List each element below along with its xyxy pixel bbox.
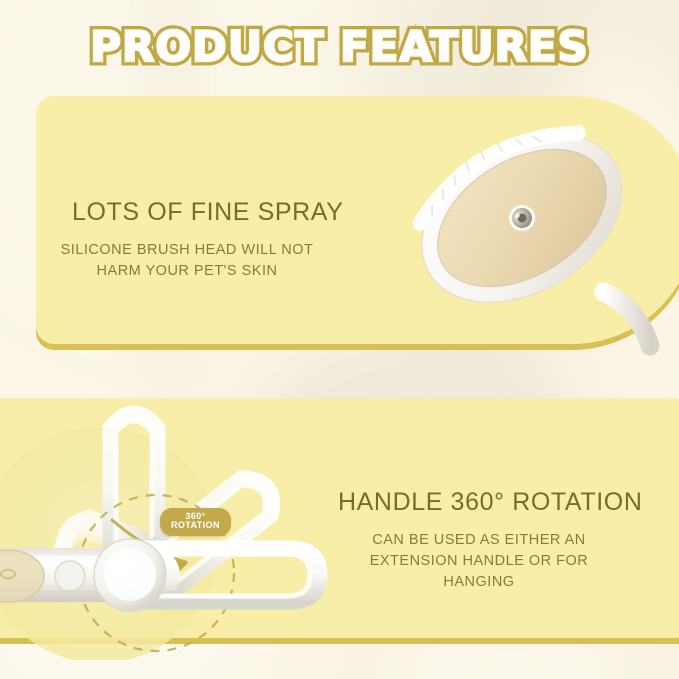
pivot-knob xyxy=(94,539,166,611)
badge-label: ROTATION xyxy=(171,521,220,530)
page-title: PRODUCT FEATURES xyxy=(0,22,679,71)
feature-body: SILICONE BRUSH HEAD WILL NOT HARM YOUR P… xyxy=(42,240,332,282)
brush-head-svg xyxy=(372,78,672,368)
infographic-stage: PRODUCT FEATURES PRODUCT FEATURES PRODUC… xyxy=(0,0,679,679)
rotation-badge: 360° ROTATION xyxy=(160,508,231,536)
pet-brush-head-image xyxy=(372,78,672,368)
knob-highlight xyxy=(109,556,133,572)
feature-heading: LOTS OF FINE SPRAY xyxy=(72,198,344,227)
power-button xyxy=(55,561,85,591)
brush-stem xyxy=(604,292,650,346)
feature-heading: HANDLE 360° ROTATION xyxy=(338,488,642,517)
feature-text-fine-spray: LOTS OF FINE SPRAY SILICONE BRUSH HEAD W… xyxy=(72,198,344,282)
feature-text-handle-rotation: HANDLE 360° ROTATION CAN BE USED AS EITH… xyxy=(338,488,642,593)
feature-body: CAN BE USED AS EITHER AN EXTENSION HANDL… xyxy=(336,530,622,593)
